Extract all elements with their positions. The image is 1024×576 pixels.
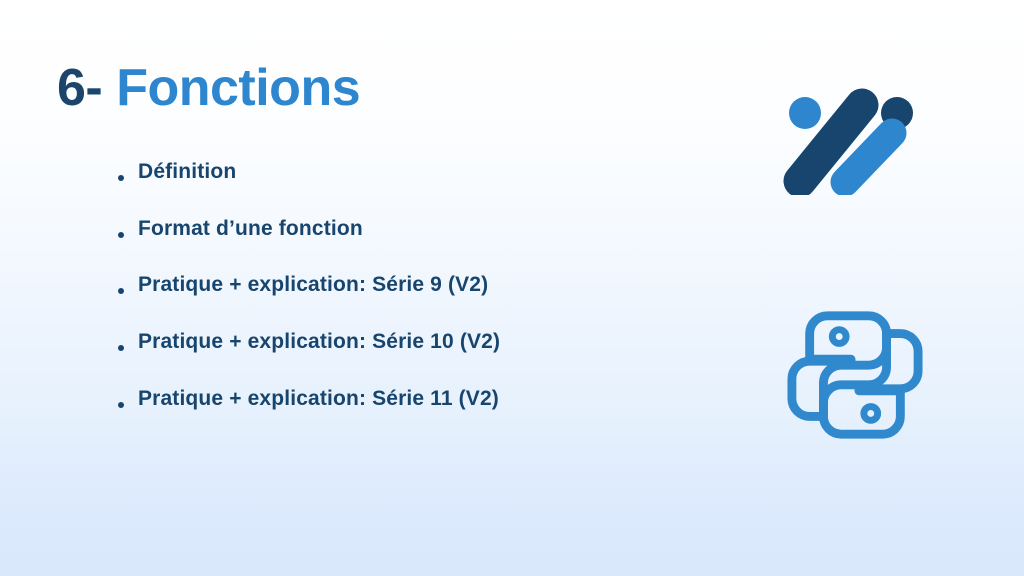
bullet-dot-icon (118, 288, 124, 294)
python-icon (786, 306, 924, 444)
list-item-label: Pratique + explication: Série 9 (V2) (138, 273, 488, 297)
list-item: Pratique + explication: Série 11 (V2) (112, 387, 752, 444)
bullet-dot-icon (118, 345, 124, 351)
list-item: Format d’une fonction (112, 217, 752, 274)
list-item-label: Pratique + explication: Série 10 (V2) (138, 330, 500, 354)
python-logo (786, 306, 924, 444)
page-title: 6- Fonctions (57, 59, 360, 119)
title-text: Fonctions (116, 59, 360, 117)
slide-canvas: 6- Fonctions Définition Format d’une fon… (0, 0, 1024, 576)
agenda-list: Définition Format d’une fonction Pratiqu… (112, 160, 752, 443)
bullet-dot-icon (118, 402, 124, 408)
brand-logo (775, 85, 925, 195)
list-item-label: Format d’une fonction (138, 217, 363, 241)
percent-slash-logo-icon (775, 85, 925, 195)
list-item: Pratique + explication: Série 10 (V2) (112, 330, 752, 387)
title-number: 6- (57, 59, 102, 117)
bullet-dot-icon (118, 232, 124, 238)
list-item: Définition (112, 160, 752, 217)
list-item-label: Pratique + explication: Série 11 (V2) (138, 387, 499, 411)
bullet-dot-icon (118, 175, 124, 181)
list-item: Pratique + explication: Série 9 (V2) (112, 273, 752, 330)
list-item-label: Définition (138, 160, 236, 184)
